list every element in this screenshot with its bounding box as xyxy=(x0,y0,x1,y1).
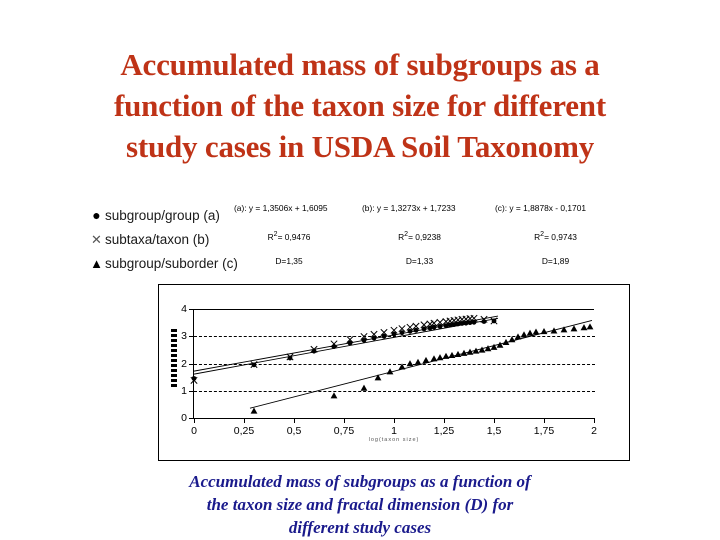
x-axis-tick xyxy=(194,418,195,423)
equation-b: (b): y = 1,3273x + 1,7233 xyxy=(360,203,493,214)
data-point xyxy=(399,363,406,369)
data-point xyxy=(587,323,594,329)
dimension-c: D=1,89 xyxy=(493,256,622,267)
regression-annotations: (a): y = 1,3506x + 1,6095 R2= 0,9476 D=1… xyxy=(232,203,622,267)
data-point xyxy=(581,324,588,330)
data-point xyxy=(449,352,456,358)
x-axis-tick-label: 2 xyxy=(591,426,597,437)
legend-item-subtaxa-taxon: ✕ subtaxa/taxon (b) xyxy=(88,227,248,251)
x-axis-tick xyxy=(594,418,595,423)
data-point xyxy=(414,328,419,333)
x-axis-tick-label: 1 xyxy=(391,426,397,437)
r2-value-a: = 0,9476 xyxy=(278,232,311,242)
data-point xyxy=(527,330,534,336)
chart-legend: ● subgroup/group (a) ✕ subtaxa/taxon (b)… xyxy=(88,203,248,275)
x-axis-tick-label: 1,25 xyxy=(434,426,454,437)
r2-value-b: = 0,9238 xyxy=(408,232,441,242)
caption-line-1: Accumulated mass of subgroups as a funct… xyxy=(60,470,660,493)
data-point xyxy=(408,329,413,334)
plot-area: 0123400,250,50,7511,251,51,752 xyxy=(193,309,594,419)
series-filled-circle xyxy=(192,319,497,381)
legend-label-a: subgroup/group (a) xyxy=(105,208,220,223)
r2-b: R2= 0,9238 xyxy=(360,229,493,243)
trendline xyxy=(194,318,498,374)
data-point xyxy=(422,326,427,331)
title-line-3: study cases in USDA Soil Taxonomy xyxy=(40,126,680,167)
caption-line-3: different study cases xyxy=(60,516,660,539)
data-point xyxy=(400,330,405,335)
data-point xyxy=(509,336,516,342)
y-axis-tick-label: 3 xyxy=(181,331,187,342)
title-line-2: function of the taxon size for different xyxy=(40,85,680,126)
regression-block-b: (b): y = 1,3273x + 1,7233 R2= 0,9238 D=1… xyxy=(360,203,493,267)
x-axis-tick-label: 1,5 xyxy=(487,426,502,437)
data-series-layer xyxy=(194,309,594,418)
x-axis-tick xyxy=(294,418,295,423)
data-point xyxy=(443,353,450,359)
data-point xyxy=(438,324,443,329)
filled-triangle-marker-icon: ▲ xyxy=(88,257,105,270)
x-axis-tick xyxy=(444,418,445,423)
caption-line-2: the taxon size and fractal dimension (D)… xyxy=(60,493,660,516)
data-point xyxy=(407,360,414,366)
regression-block-a: (a): y = 1,3506x + 1,6095 R2= 0,9476 D=1… xyxy=(232,203,360,267)
regression-block-c: (c): y = 1,8878x - 0,1701 R2= 0,9743 D=1… xyxy=(493,203,622,267)
data-point xyxy=(533,328,540,334)
data-point xyxy=(415,359,422,365)
x-axis-tick-label: 0,25 xyxy=(234,426,254,437)
data-point xyxy=(423,357,430,363)
y-axis-tick-label: 1 xyxy=(181,386,187,397)
legend-item-subgroup-group: ● subgroup/group (a) xyxy=(88,203,248,227)
r2-c: R2= 0,9743 xyxy=(493,229,622,243)
chart-container: 0123400,250,50,7511,251,51,752 log(taxon… xyxy=(158,284,630,461)
data-point xyxy=(541,328,548,334)
data-point xyxy=(251,408,258,414)
x-axis-tick xyxy=(544,418,545,423)
y-axis-tick-label: 2 xyxy=(181,359,187,370)
r2-value-c: = 0,9743 xyxy=(544,232,577,242)
x-axis-tick xyxy=(394,418,395,423)
page-title: Accumulated mass of subgroups as a funct… xyxy=(40,44,680,167)
data-point xyxy=(467,349,474,355)
equation-a: (a): y = 1,3506x + 1,6095 xyxy=(232,203,360,214)
y-axis-tick-label: 0 xyxy=(181,413,187,424)
title-line-1: Accumulated mass of subgroups as a xyxy=(40,44,680,85)
x-cross-marker-icon: ✕ xyxy=(88,233,105,246)
y-axis-label xyxy=(171,329,177,389)
x-axis-tick-label: 0,5 xyxy=(287,426,302,437)
dimension-b: D=1,33 xyxy=(360,256,493,267)
figure-caption: Accumulated mass of subgroups as a funct… xyxy=(60,470,660,539)
data-point xyxy=(437,354,444,360)
x-axis-tick xyxy=(344,418,345,423)
dimension-a: D=1,35 xyxy=(232,256,360,267)
legend-label-b: subtaxa/taxon (b) xyxy=(105,232,209,247)
data-point xyxy=(431,355,438,361)
equation-c: (c): y = 1,8878x - 0,1701 xyxy=(493,203,622,214)
series-filled-triangle xyxy=(251,323,594,413)
data-point xyxy=(521,331,528,337)
x-axis-tick-label: 1,75 xyxy=(534,426,554,437)
data-point xyxy=(361,385,368,391)
x-axis-tick-label: 0 xyxy=(191,426,197,437)
x-axis-tick xyxy=(494,418,495,423)
data-point xyxy=(428,326,433,331)
legend-label-c: subgroup/suborder (c) xyxy=(105,256,238,271)
x-axis-tick xyxy=(244,418,245,423)
data-point xyxy=(331,392,338,398)
filled-circle-marker-icon: ● xyxy=(88,208,105,222)
legend-item-subgroup-suborder: ▲ subgroup/suborder (c) xyxy=(88,251,248,275)
r2-a: R2= 0,9476 xyxy=(232,229,360,243)
x-axis-label: log(taxon size) xyxy=(159,437,629,443)
data-point xyxy=(515,333,522,339)
data-point xyxy=(432,325,437,330)
y-axis-tick-label: 4 xyxy=(181,304,187,315)
x-axis-tick-label: 0,75 xyxy=(334,426,354,437)
slide-canvas: Accumulated mass of subgroups as a funct… xyxy=(0,0,720,540)
